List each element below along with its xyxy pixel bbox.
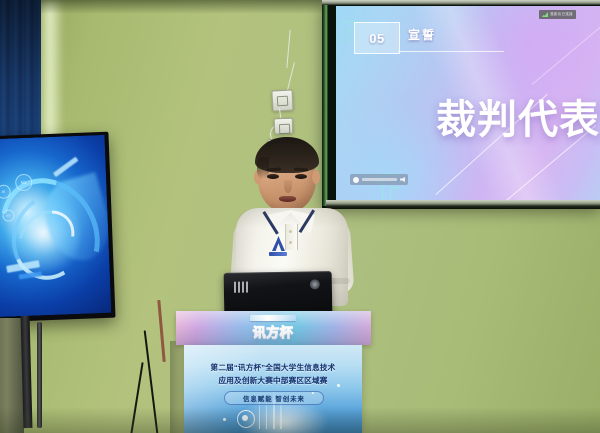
tv-screen: 5G AI IoT <box>0 135 111 317</box>
slide-section-number: 05 <box>369 31 384 46</box>
projector-status-label: 投影仪已连接 <box>550 12 573 17</box>
tv-bubble-5g: 5G <box>15 173 33 191</box>
playback-label <box>362 178 397 181</box>
eye-left <box>267 174 279 179</box>
shirt-button-top <box>289 230 292 233</box>
nose <box>284 180 292 193</box>
speaker-icon[interactable] <box>400 177 405 182</box>
laptop-camera-icon <box>310 279 320 289</box>
tv-bar-3 <box>53 157 79 178</box>
emblem-mark <box>272 236 285 251</box>
presentation-slide: 05 宣誓 裁判代表宣 投影仪已连接 <box>336 6 600 201</box>
floor-shadow <box>0 407 600 433</box>
conference-room-photo: 5G AI IoT 05 宣誓 裁判代表宣 投 <box>0 0 600 433</box>
shirt-emblem-icon <box>268 236 288 258</box>
projection-screen-top-trim <box>322 0 600 5</box>
podium-title-line-2: 应用及创新大赛中部赛区区域赛 <box>190 374 356 387</box>
window-curtain <box>0 0 41 150</box>
shirt-button-bottom <box>289 241 292 244</box>
tv-bezel: 5G AI IoT <box>0 135 111 317</box>
slide-header-rule <box>398 51 504 52</box>
slide-section-number-box: 05 <box>354 22 400 54</box>
wall-outlet-middle <box>274 118 294 135</box>
laptop-brand-badge <box>234 281 250 292</box>
slide-playback-control[interactable] <box>350 174 408 185</box>
projector-status-badge: 投影仪已连接 <box>539 10 576 19</box>
slide-section-kicker: 宣誓 <box>408 26 436 43</box>
logo-cap-shape <box>250 315 296 321</box>
play-icon[interactable] <box>353 177 359 183</box>
podium-title: 第二届“讯方杯”全国大学生信息技术 应用及创新大赛中部赛区区域赛 <box>190 361 356 387</box>
eye-right <box>295 174 307 179</box>
left-display-tv: 5G AI IoT <box>0 132 116 323</box>
podium-top-panel: 讯方杯 <box>176 311 371 345</box>
wall-outlet-upper <box>271 89 293 111</box>
signal-icon <box>542 12 548 17</box>
podium-brand-logo: 讯方杯 <box>236 315 310 341</box>
podium-brand-text: 讯方杯 <box>253 322 294 341</box>
hair <box>255 137 319 173</box>
podium-title-line-1: 第二届“讯方杯”全国大学生信息技术 <box>190 361 356 374</box>
podium-tagline: 信息赋能 智创未来 <box>224 391 324 405</box>
projection-screen-bottom-trim <box>326 200 600 209</box>
emblem-bar <box>269 252 287 256</box>
slide-headline: 裁判代表宣 <box>436 100 600 140</box>
ear-right <box>312 170 320 184</box>
